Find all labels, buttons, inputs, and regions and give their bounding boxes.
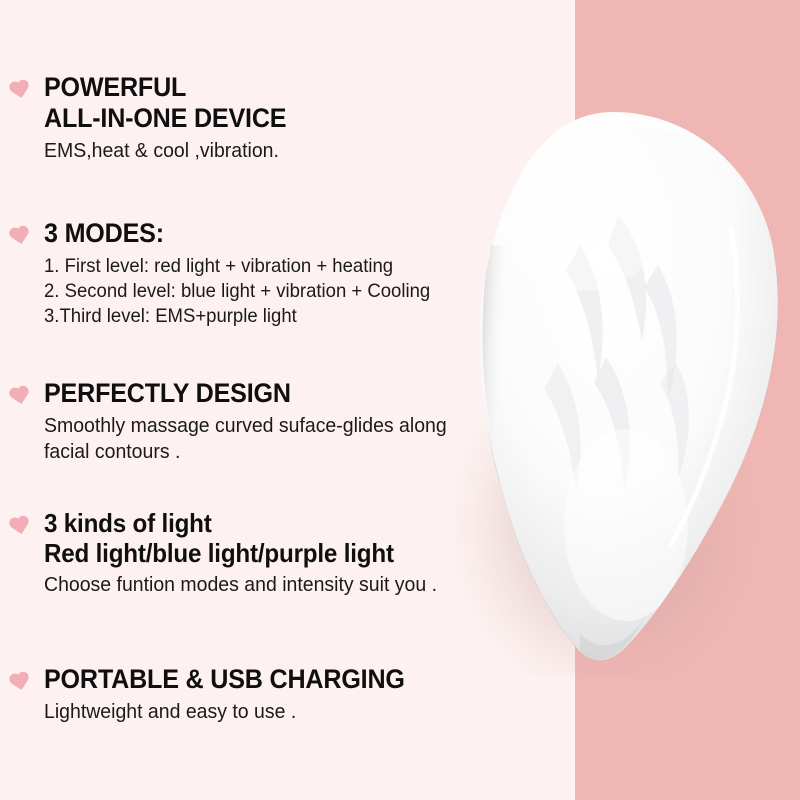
feature-list: POWERFUL ALL-IN-ONE DEVICE EMS,heat & co… — [0, 0, 520, 800]
modes-list: 1. First level: red light + vibration + … — [44, 254, 520, 329]
feature-heading: 3 MODES: — [44, 218, 487, 249]
mode-item: 3.Third level: EMS+purple light — [44, 304, 496, 329]
mode-item: 1. First level: red light + vibration + … — [44, 254, 496, 279]
heart-icon — [9, 227, 35, 251]
feature-heading: 3 kinds of light Red light/blue light/pu… — [44, 508, 487, 568]
heart-icon — [9, 517, 35, 541]
heart-icon — [9, 387, 35, 411]
feature-heading-line: POWERFUL — [44, 72, 487, 103]
mode-item: 2. Second level: blue light + vibration … — [44, 279, 496, 304]
feature-heading-line: Red light/blue light/purple light — [44, 538, 487, 568]
feature-block-three-kinds-of-light: 3 kinds of light Red light/blue light/pu… — [0, 508, 520, 598]
feature-heading: PORTABLE & USB CHARGING — [44, 664, 487, 695]
heart-icon — [9, 673, 35, 697]
feature-subtext: Smoothly massage curved suface-glides al… — [44, 413, 496, 465]
feature-subtext-line: facial contours . — [44, 439, 496, 465]
feature-heading: POWERFUL ALL-IN-ONE DEVICE — [44, 72, 487, 134]
feature-heading-line: ALL-IN-ONE DEVICE — [44, 103, 487, 134]
feature-subtext: EMS,heat & cool ,vibration. — [44, 138, 496, 164]
feature-block-powerful-all-in-one-device: POWERFUL ALL-IN-ONE DEVICE EMS,heat & co… — [0, 72, 520, 164]
feature-subtext: Choose funtion modes and intensity suit … — [44, 572, 496, 598]
feature-block-three-modes: 3 MODES: 1. First level: red light + vib… — [0, 218, 520, 329]
feature-subtext: Lightweight and easy to use . — [44, 699, 496, 725]
feature-block-portable-usb-charging: PORTABLE & USB CHARGING Lightweight and … — [0, 664, 520, 725]
feature-heading: PERFECTLY DESIGN — [44, 378, 487, 409]
infographic-page: POWERFUL ALL-IN-ONE DEVICE EMS,heat & co… — [0, 0, 800, 800]
heart-icon — [9, 81, 35, 105]
feature-heading-line: 3 kinds of light — [44, 508, 487, 538]
feature-subtext-line: Smoothly massage curved suface-glides al… — [44, 413, 496, 439]
feature-block-perfectly-design: PERFECTLY DESIGN Smoothly massage curved… — [0, 378, 520, 465]
